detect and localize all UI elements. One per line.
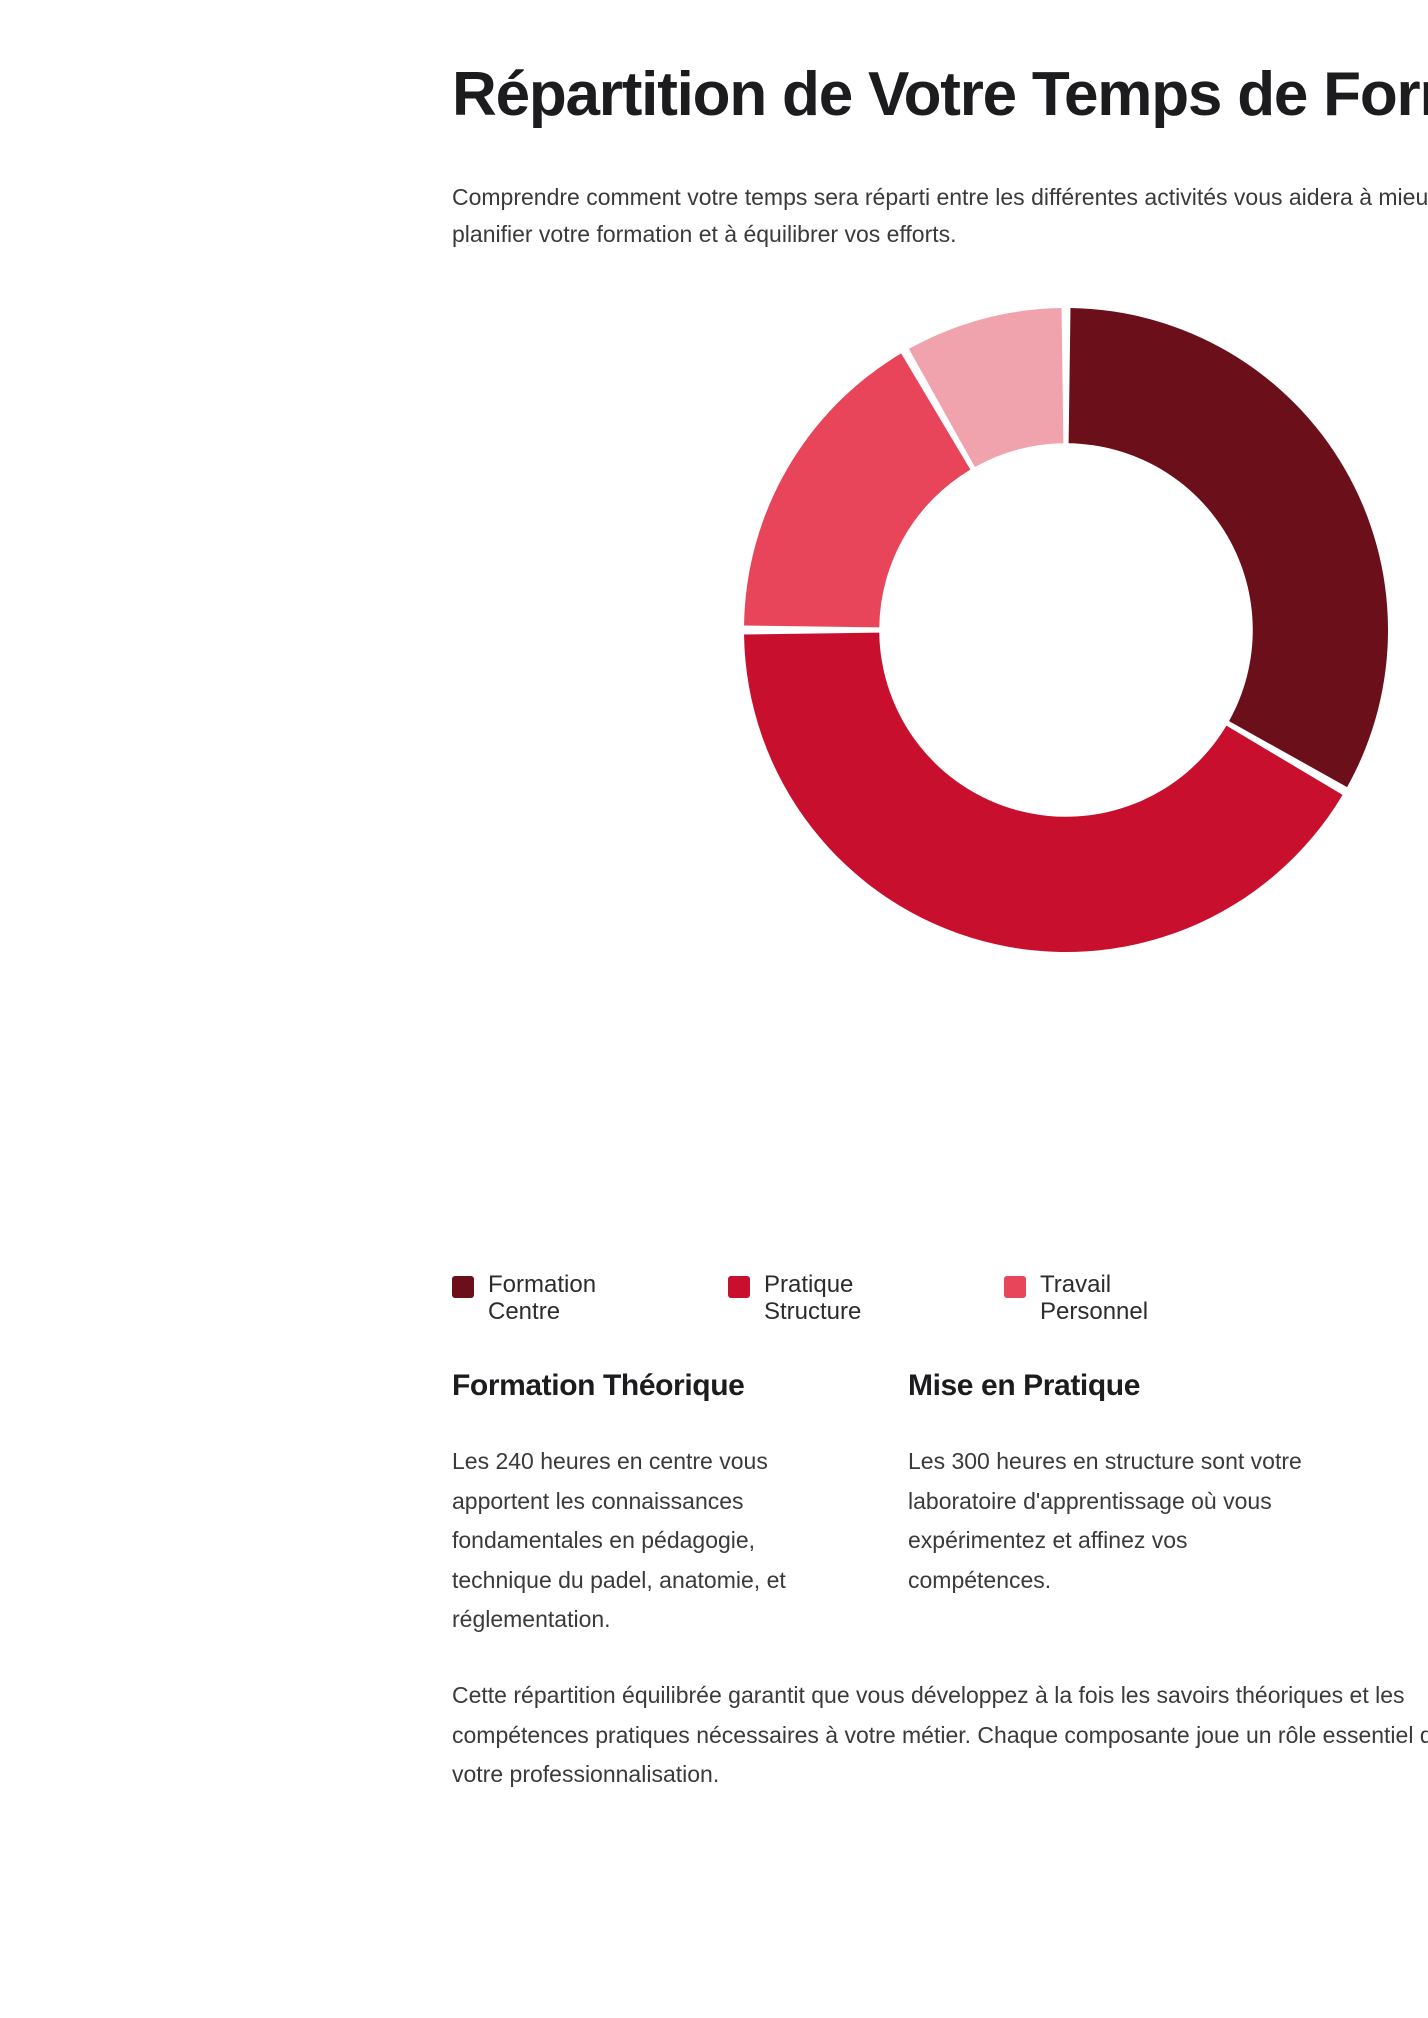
card-mise-en-pratique: Mise en Pratique Les 300 heures en struc… xyxy=(908,1368,1308,1640)
legend-item-label: Travail Personnel xyxy=(1040,1272,1148,1326)
chart-legend: Formation Centre Pratique Structure Trav… xyxy=(452,1272,1428,1326)
page-subtitle: Comprendre comment votre temps sera répa… xyxy=(452,179,1428,254)
card-body: Les 240 heures en centre vous apportent … xyxy=(452,1442,852,1640)
legend-item-travail-personnel[interactable]: Travail Personnel xyxy=(1004,1272,1280,1326)
closing-paragraph: Cette répartition équilibrée garantit qu… xyxy=(452,1676,1428,1795)
card-title: Mise en Pratique xyxy=(908,1368,1308,1404)
page-title: Répartition de Votre Temps de Formation xyxy=(452,62,1428,129)
legend-item-pratique-structure[interactable]: Pratique Structure xyxy=(728,1272,1004,1326)
donut-slice[interactable] xyxy=(1069,308,1388,787)
card-formation-theorique: Formation Théorique Les 240 heures en ce… xyxy=(452,1368,852,1640)
legend-item-label: Formation Centre xyxy=(488,1272,596,1326)
legend-swatch-icon xyxy=(728,1276,750,1298)
legend-item-formation-centre[interactable]: Formation Centre xyxy=(452,1272,728,1326)
legend-item-label: Pratique Structure xyxy=(764,1272,861,1326)
detail-cards: Formation Théorique Les 240 heures en ce… xyxy=(452,1368,1428,1640)
donut-chart xyxy=(0,300,1428,1260)
card-title: Formation Théorique xyxy=(452,1368,852,1404)
legend-swatch-icon xyxy=(452,1276,474,1298)
legend-swatch-icon xyxy=(1004,1276,1026,1298)
page-root: Répartition de Votre Temps de Formation … xyxy=(0,0,1428,2018)
card-body: Les 300 heures en structure sont votre l… xyxy=(908,1442,1308,1600)
header-block: Répartition de Votre Temps de Formation … xyxy=(452,0,1428,253)
donut-chart-svg xyxy=(706,300,1426,960)
